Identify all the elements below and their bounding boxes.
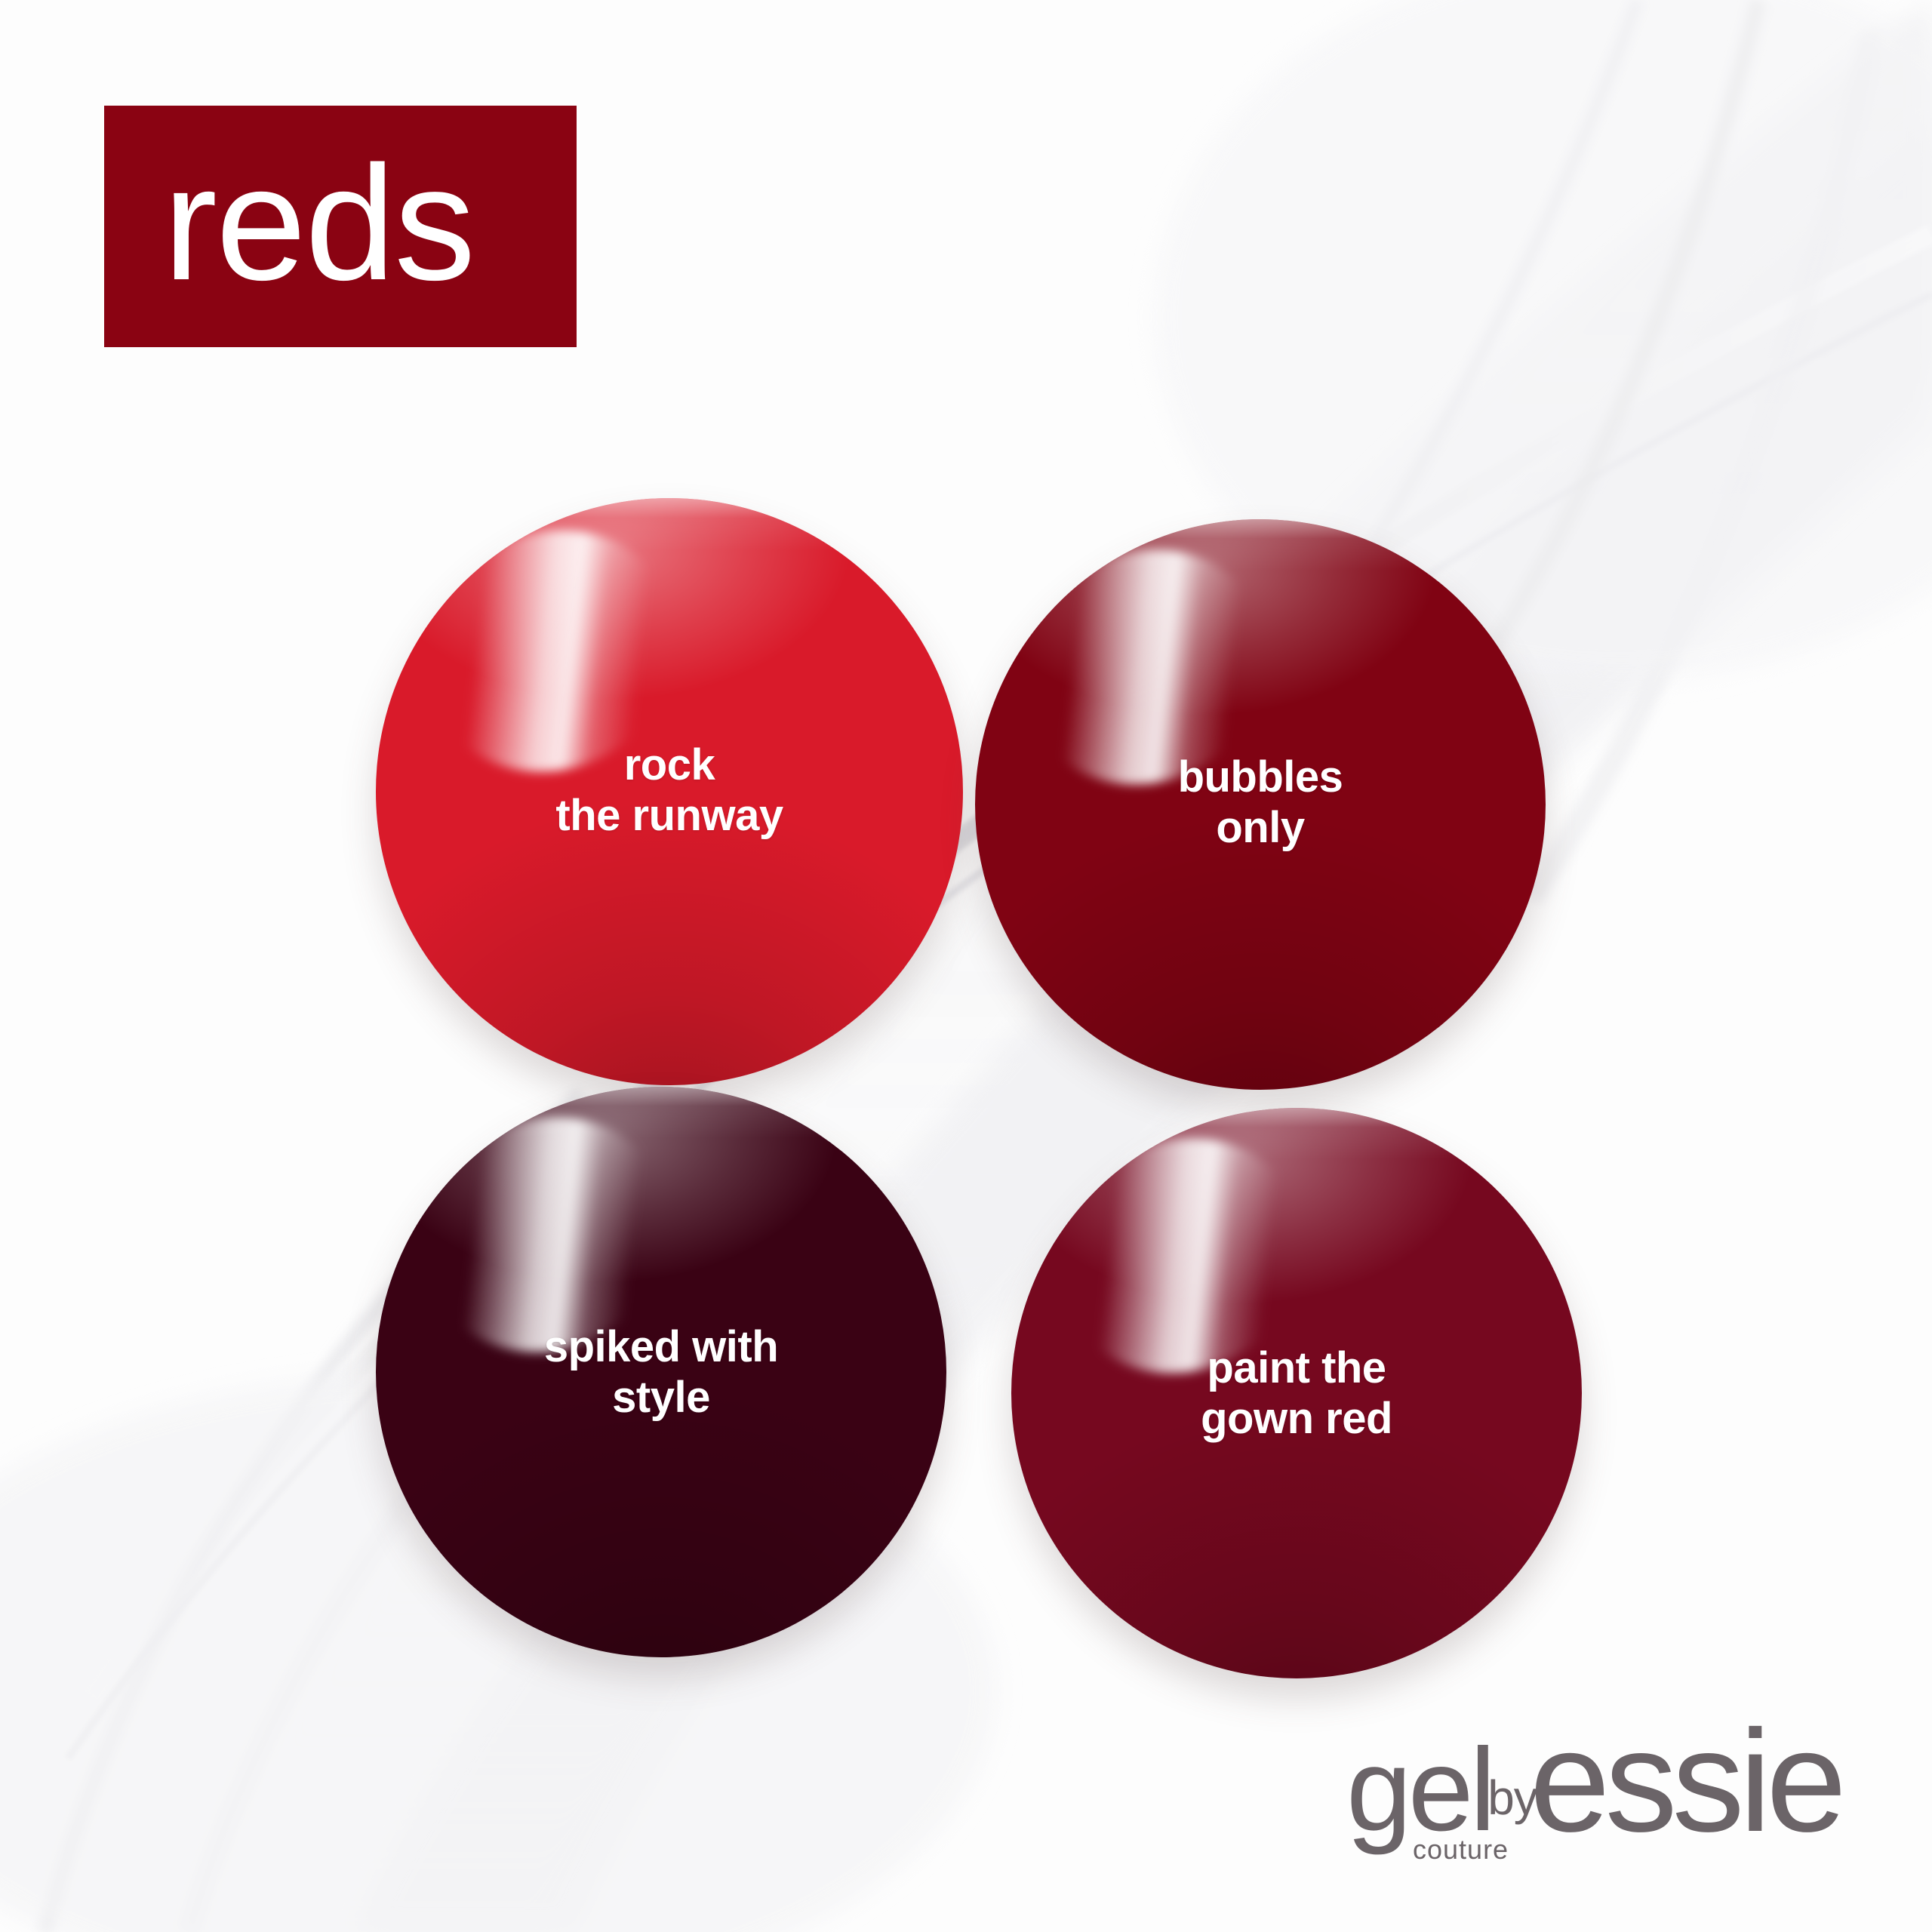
- swatch-label: spiked with style: [514, 1321, 808, 1423]
- swatch-label: rock the runway: [525, 740, 813, 841]
- swatch-rock-the-runway[interactable]: rock the runway: [376, 498, 963, 1085]
- page-title-container: reds: [104, 106, 577, 347]
- logo-gel-group: gel couture: [1346, 1737, 1492, 1843]
- logo-essie-text: essie: [1530, 1718, 1841, 1843]
- swatch-label-line2: only: [1178, 802, 1343, 853]
- swatch-label-line1: bubbles: [1178, 752, 1343, 802]
- swatch-label-line2: gown red: [1201, 1393, 1392, 1444]
- swatch-label-line2: the runway: [555, 790, 783, 841]
- swatch-label: paint the gown red: [1171, 1343, 1423, 1444]
- swatch-label-line1: spiked with: [544, 1321, 778, 1372]
- poster-canvas: reds rock the runway bubbles only spiked…: [0, 0, 1932, 1932]
- swatch-label: bubbles only: [1148, 752, 1374, 854]
- swatch-paint-the-gown-red[interactable]: paint the gown red: [1011, 1108, 1582, 1678]
- swatch-label-line1: paint the: [1201, 1343, 1392, 1393]
- swatch-label-line2: style: [544, 1372, 778, 1423]
- page-title: reds: [163, 141, 474, 304]
- swatch-bubbles-only[interactable]: bubbles only: [975, 519, 1546, 1090]
- brand-logo: gel couture by essie: [1346, 1718, 1841, 1843]
- swatch-spiked-with-style[interactable]: spiked with style: [376, 1087, 946, 1657]
- swatch-label-line1: rock: [555, 740, 783, 790]
- logo-couture-text: couture: [1413, 1834, 1509, 1866]
- logo-gel-text: gel: [1346, 1737, 1492, 1843]
